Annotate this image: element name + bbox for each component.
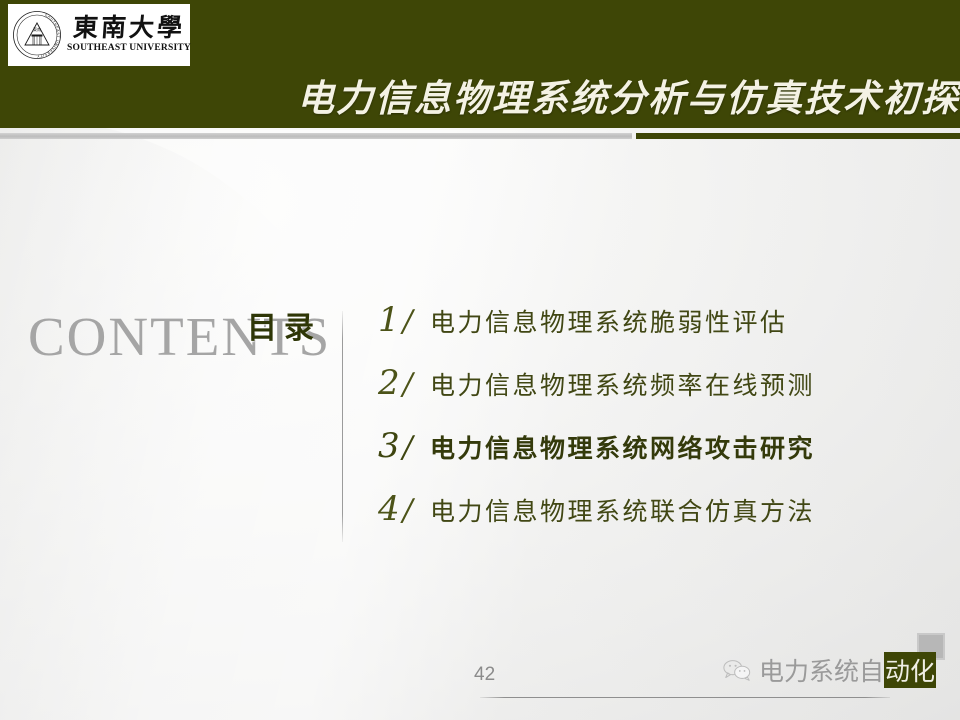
page-title: 电力信息物理系统分析与仿真技术初探 bbox=[297, 68, 960, 122]
slide-root: 東南 SOUTHEAST UNIVERSITY 東南大學 SOUTHEAST U… bbox=[0, 0, 960, 720]
page-number: 42 bbox=[474, 664, 495, 686]
toc-number-2: 2/ bbox=[378, 363, 430, 403]
toc-label-2: 电力信息物理系统频率在线预测 bbox=[430, 366, 815, 402]
slide-header: 東南 SOUTHEAST UNIVERSITY 東南大學 SOUTHEAST U… bbox=[0, 0, 960, 128]
toc-number-value-1: 1 bbox=[378, 300, 401, 340]
toc-number-value-3: 3 bbox=[378, 426, 401, 466]
logo-name-en: SOUTHEAST UNIVERSITY bbox=[67, 42, 191, 54]
watermark-text-highlight: 动化 bbox=[884, 652, 936, 688]
toc-label-4: 电力信息物理系统联合仿真方法 bbox=[430, 492, 815, 528]
watermark: 电力系统自动化 bbox=[722, 652, 936, 688]
toc-label-3: 电力信息物理系统网络攻击研究 bbox=[430, 429, 815, 465]
logo-wordmark: 東南大學 SOUTHEAST UNIVERSITY bbox=[67, 16, 191, 55]
toc-item-3[interactable]: 3/ 电力信息物理系统网络攻击研究 bbox=[378, 426, 898, 489]
toc-item-4[interactable]: 4/ 电力信息物理系统联合仿真方法 bbox=[378, 489, 898, 552]
watermark-text-plain: 电力系统自 bbox=[759, 652, 884, 688]
footer-rule bbox=[480, 697, 890, 698]
divider-gray-segment bbox=[0, 133, 632, 139]
table-of-contents: 1/ 电力信息物理系统脆弱性评估 2/ 电力信息物理系统频率在线预测 3/ 电力… bbox=[378, 300, 898, 552]
toc-number-1: 1/ bbox=[378, 300, 430, 340]
toc-item-2[interactable]: 2/ 电力信息物理系统频率在线预测 bbox=[378, 363, 898, 426]
toc-number-value-2: 2 bbox=[378, 363, 401, 403]
toc-label-1: 电力信息物理系统脆弱性评估 bbox=[430, 303, 788, 339]
university-logo: 東南 SOUTHEAST UNIVERSITY 東南大學 SOUTHEAST U… bbox=[8, 4, 190, 66]
wechat-icon bbox=[722, 658, 752, 682]
toc-number-3: 3/ bbox=[378, 426, 430, 466]
toc-number-value-4: 4 bbox=[378, 489, 401, 529]
vertical-separator bbox=[342, 311, 343, 542]
toc-slash-4: / bbox=[401, 493, 414, 528]
contents-heading-cn: 目录 bbox=[247, 303, 321, 347]
seu-seal-icon: 東南 SOUTHEAST UNIVERSITY bbox=[12, 10, 62, 60]
background-curve-decoration bbox=[0, 120, 400, 720]
toc-slash-3: / bbox=[401, 430, 414, 465]
toc-item-1[interactable]: 1/ 电力信息物理系统脆弱性评估 bbox=[378, 300, 898, 363]
watermark-text: 电力系统自动化 bbox=[759, 652, 936, 688]
toc-slash-2: / bbox=[401, 367, 414, 402]
toc-slash-1: / bbox=[401, 304, 414, 339]
header-divider bbox=[0, 131, 960, 141]
divider-green-segment bbox=[636, 133, 960, 139]
toc-number-4: 4/ bbox=[378, 489, 430, 529]
svg-text:東南: 東南 bbox=[33, 26, 41, 32]
logo-name-cn: 東南大學 bbox=[72, 16, 186, 42]
